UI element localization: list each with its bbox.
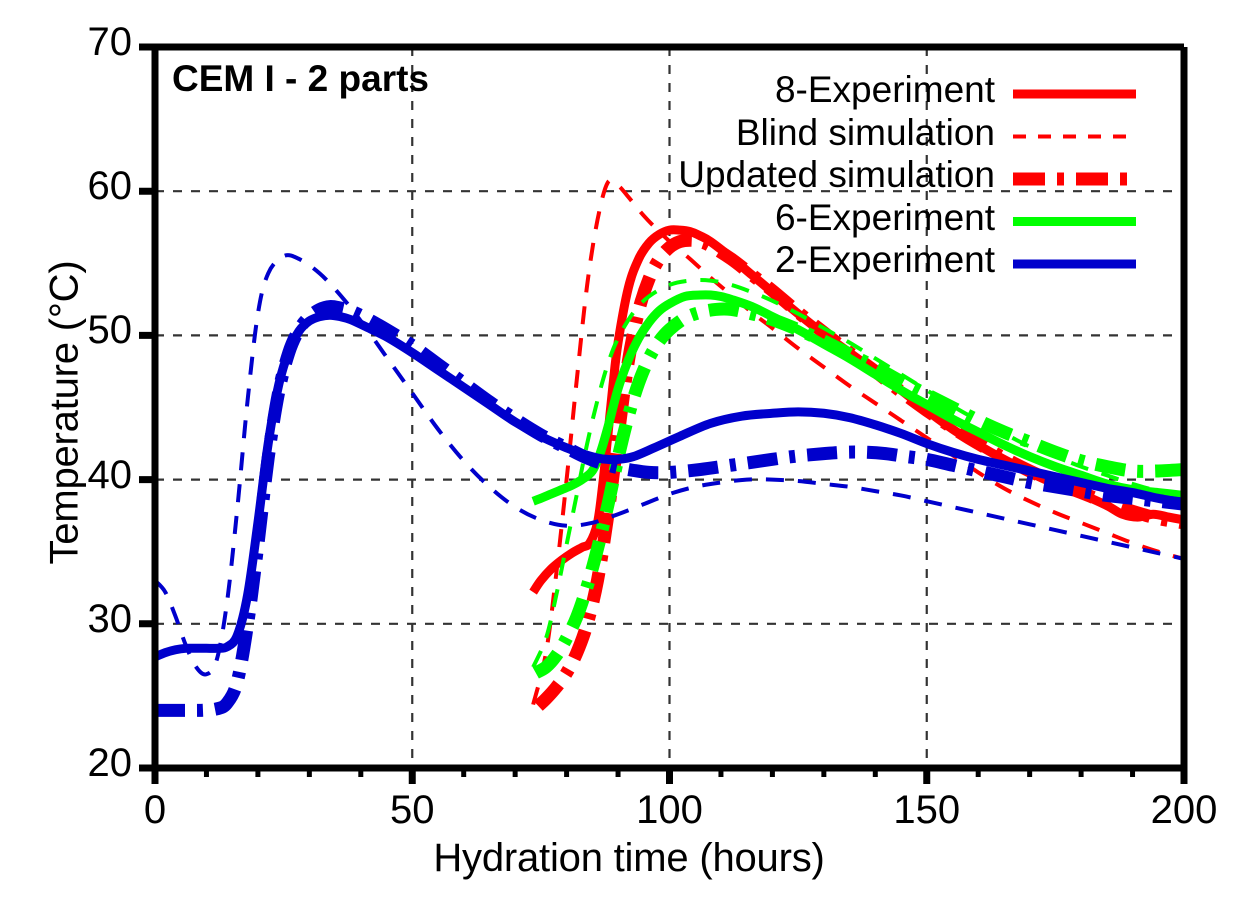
- legend-item-label[interactable]: Blind simulation: [500, 112, 995, 154]
- legend-item-label[interactable]: Updated simulation: [500, 154, 995, 196]
- legend-sample-lines: [1013, 94, 1136, 264]
- plot-title: CEM I - 2 parts: [172, 58, 429, 100]
- x-tick-label: 200: [1094, 788, 1258, 833]
- legend-item-label[interactable]: 6-Experiment: [500, 197, 995, 239]
- x-tick-label: 0: [65, 788, 245, 833]
- y-axis-title: Temperature (°C): [43, 63, 88, 763]
- x-tick-label: 100: [580, 788, 760, 833]
- legend-item-label[interactable]: 8-Experiment: [500, 69, 995, 111]
- chart-figure: CEM I - 2 parts 203040506070050100150200…: [0, 0, 1258, 900]
- x-axis-title: Hydration time (hours): [0, 836, 1258, 881]
- y-axis-title-wrap: Temperature (°C): [0, 0, 70, 820]
- x-tick-label: 150: [837, 788, 1017, 833]
- x-tick-label: 50: [322, 788, 502, 833]
- legend-item-label[interactable]: 2-Experiment: [500, 239, 995, 281]
